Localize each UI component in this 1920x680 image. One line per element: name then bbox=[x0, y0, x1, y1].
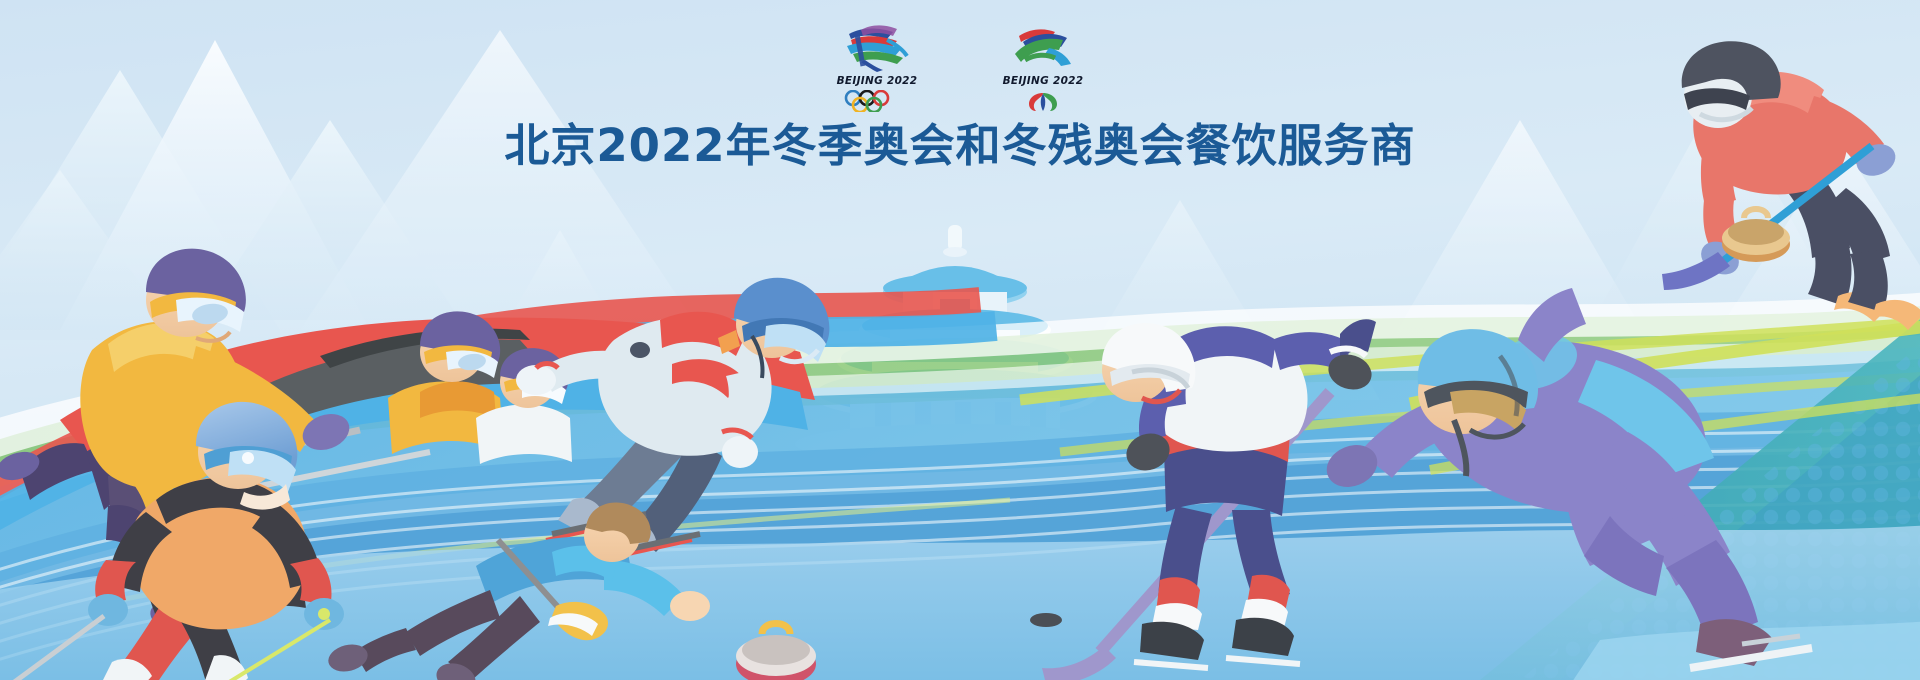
winter-olympic-symbol-icon bbox=[827, 22, 927, 72]
olympic-rings-icon bbox=[840, 90, 914, 112]
beijing-2022-catering-banner: BEIJING 2022 bbox=[0, 0, 1920, 680]
title-block: 北京2022年冬季奥会和冬残奥会餐饮服务商 bbox=[0, 118, 1920, 174]
winter-paralympic-symbol-icon bbox=[993, 22, 1093, 72]
emblem-row: BEIJING 2022 bbox=[0, 22, 1920, 112]
curling-stone bbox=[736, 624, 816, 680]
athlete-speed-skater-right bbox=[1320, 288, 1812, 668]
paralympic-agitos-icon bbox=[1006, 90, 1080, 112]
paralympic-wordmark: BEIJING 2022 bbox=[1003, 75, 1084, 87]
paralympic-emblem: BEIJING 2022 bbox=[989, 22, 1097, 112]
olympic-wordmark: BEIJING 2022 bbox=[837, 75, 918, 87]
hockey-puck bbox=[1030, 613, 1062, 627]
olympic-emblem: BEIJING 2022 bbox=[823, 22, 931, 112]
athlete-ice-hockey-player bbox=[1030, 319, 1376, 680]
page-title: 北京2022年冬季奥会和冬残奥会餐饮服务商 bbox=[0, 118, 1920, 174]
